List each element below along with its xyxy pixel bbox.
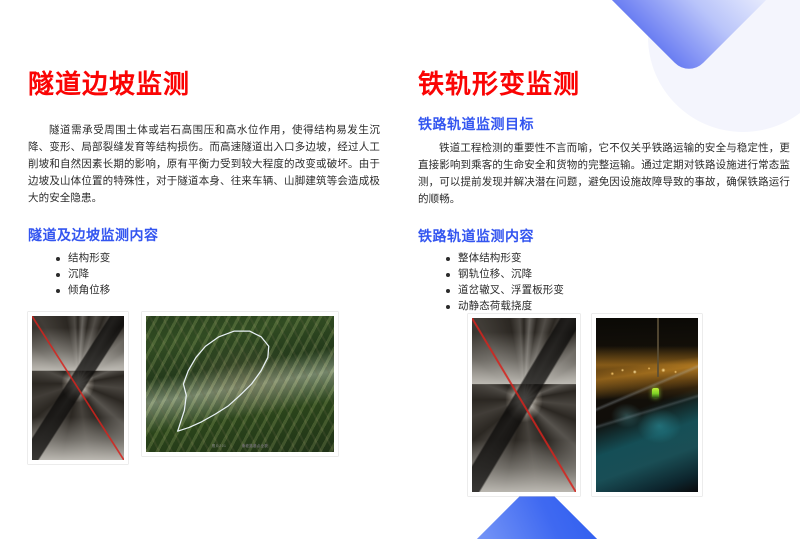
list-item: 整体结构形变 bbox=[446, 251, 790, 267]
slope-caption-right: 滑坡路基点全貌 bbox=[242, 444, 269, 448]
left-photo-row: 照片201 滑坡路基点全貌 bbox=[28, 312, 338, 464]
list-item: 沉降 bbox=[56, 267, 380, 283]
list-item: 动静态荷载挠度 bbox=[446, 299, 790, 315]
right-column: 铁轨形变监测 铁路轨道监测目标 铁道工程检测的重要性不言而喻，它不仅关乎铁路运输… bbox=[418, 0, 790, 315]
left-content-heading: 隧道及边坡监测内容 bbox=[28, 227, 380, 244]
slope-caption-left: 照片201 bbox=[212, 444, 226, 448]
slope-photo-caption: 照片201 滑坡路基点全貌 bbox=[146, 443, 334, 448]
left-column: 隧道边坡监测 隧道需承受周围土体或岩石高围压和高水位作用，使得结构易发生沉降、变… bbox=[28, 0, 380, 299]
slide-page: 隧道边坡监测 隧道需承受周围土体或岩石高围压和高水位作用，使得结构易发生沉降、变… bbox=[0, 0, 800, 539]
list-item: 钢轨位移、沉降 bbox=[446, 267, 790, 283]
tunnel-interior-photo bbox=[468, 314, 580, 496]
slope-boundary-outline-icon bbox=[146, 316, 334, 452]
right-goal-heading: 铁路轨道监测目标 bbox=[418, 116, 790, 133]
mountain-slope-aerial-photo: 照片201 滑坡路基点全貌 bbox=[142, 312, 338, 456]
left-body-paragraph: 隧道需承受周围土体或岩石高围压和高水位作用，使得结构易发生沉降、变形、局部裂缝发… bbox=[28, 122, 380, 207]
worker-high-vis-figure bbox=[652, 388, 659, 398]
right-body-paragraph: 铁道工程检测的重要性不言而喻，它不仅关乎铁路运输的安全与稳定性，更直接影响到乘客… bbox=[418, 140, 790, 208]
tunnel-interior-photo-artwork bbox=[472, 318, 576, 492]
night-railway-track-photo bbox=[592, 314, 702, 496]
mountain-slope-photo-artwork: 照片201 滑坡路基点全貌 bbox=[146, 316, 334, 452]
right-bullet-list: 整体结构形变 钢轨位移、沉降 道岔辙叉、浮置板形变 动静态荷载挠度 bbox=[418, 251, 790, 315]
tunnel-interior-photo bbox=[28, 312, 128, 464]
right-photo-row bbox=[468, 314, 702, 496]
list-item: 结构形变 bbox=[56, 251, 380, 267]
list-item: 倾角位移 bbox=[56, 283, 380, 299]
left-page-title: 隧道边坡监测 bbox=[28, 70, 380, 100]
night-railway-photo-artwork bbox=[596, 318, 698, 492]
left-bullet-list: 结构形变 沉降 倾角位移 bbox=[28, 251, 380, 299]
right-content-heading: 铁路轨道监测内容 bbox=[418, 228, 790, 245]
tunnel-interior-photo-artwork bbox=[32, 316, 124, 460]
right-page-title: 铁轨形变监测 bbox=[418, 70, 790, 100]
list-item: 道岔辙叉、浮置板形变 bbox=[446, 283, 790, 299]
